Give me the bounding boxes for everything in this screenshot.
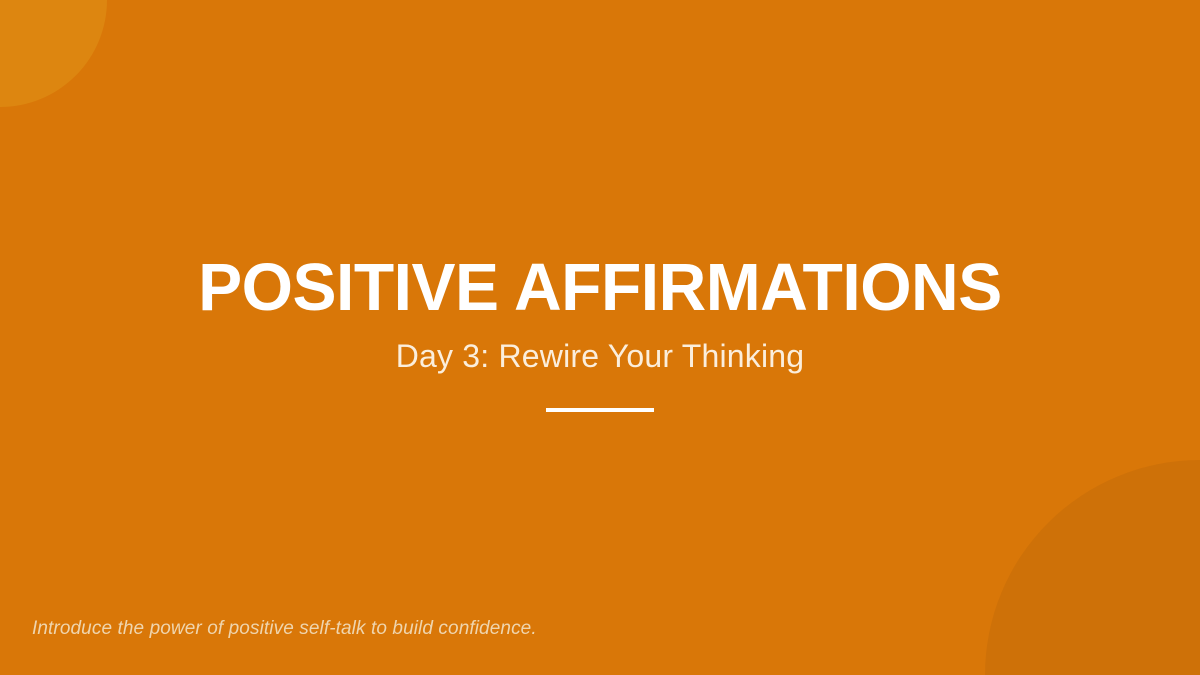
slide-subtitle: Day 3: Rewire Your Thinking: [396, 337, 805, 375]
slide-title: POSITIVE AFFIRMATIONS: [198, 253, 1002, 323]
title-block: POSITIVE AFFIRMATIONS Day 3: Rewire Your…: [0, 0, 1200, 675]
title-divider: [546, 408, 654, 412]
slide-footer-note: Introduce the power of positive self-tal…: [32, 617, 537, 642]
title-slide: POSITIVE AFFIRMATIONS Day 3: Rewire Your…: [0, 0, 1200, 675]
